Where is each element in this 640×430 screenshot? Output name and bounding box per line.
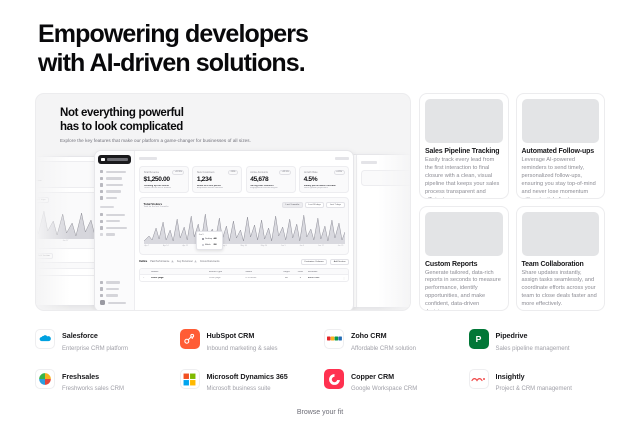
- sidebar-brand[interactable]: [98, 155, 131, 164]
- dashboard-content: Total Revenue +12.5% $1,250.00 Trending …: [135, 151, 353, 311]
- sidebar-item-label: [106, 214, 125, 216]
- range-button[interactable]: Last 7 days: [35, 197, 49, 203]
- tab-past-performance[interactable]: Past Performance 3: [150, 260, 174, 263]
- sidebar-item-label: [106, 184, 123, 186]
- logo-name: Microsoft Dynamics 365: [207, 372, 288, 381]
- visitors-chart[interactable]: Jun 9 Desktop 446 Mobile: [144, 210, 345, 250]
- team-icon: [100, 196, 103, 199]
- sidebar-item-settings[interactable]: [98, 279, 131, 286]
- axis-tick: May 24: [261, 245, 267, 247]
- feature-title: Team Collaboration: [522, 261, 600, 268]
- add-section-label: Add Section: [334, 261, 346, 263]
- logo-item-microsoft[interactable]: Microsoft Dynamics 365 Microsoft busines…: [180, 366, 317, 394]
- search-icon: [100, 294, 103, 297]
- logo-name: Copper CRM: [351, 372, 394, 381]
- logo-name: HubSpot CRM: [207, 331, 255, 340]
- logo-name: Zoho CRM: [351, 331, 387, 340]
- dashboard-mock-front: Total Revenue +12.5% $1,250.00 Trending …: [94, 150, 354, 311]
- showcase-band: Not everything powerful has to look comp…: [35, 93, 605, 311]
- sidebar-item-lifecycle[interactable]: [98, 175, 131, 182]
- more-icon: [100, 233, 103, 236]
- sidebar-item-label: [106, 233, 115, 235]
- chart-tooltip: Jun 9 Desktop 446 Mobile: [196, 231, 223, 250]
- tab-label: Focus Documents: [200, 260, 219, 263]
- tab-count: 2: [194, 261, 197, 264]
- cell-limit: 5: [295, 277, 306, 279]
- sidebar-item-label: [106, 190, 121, 192]
- sections-table: Header Section Type Status Target Limit …: [139, 268, 349, 282]
- feature-thumbnail: [522, 212, 600, 256]
- sidebar-item-analytics[interactable]: [98, 182, 131, 189]
- sidebar-item-label: [106, 227, 127, 229]
- sidebar-item-label: [106, 288, 119, 290]
- cell-target: 18: [280, 277, 293, 279]
- axis-tick: Jun 17: [63, 240, 69, 242]
- table-toolbar: Outline Past Performance 3 Key Personnel…: [139, 259, 349, 265]
- brand-logo-icon: [101, 158, 105, 162]
- range-selector: Last 3 months Last 30 days Last 7 days: [282, 202, 344, 208]
- column-header-reviewer: Reviewer: [308, 271, 338, 273]
- analytics-icon: [100, 183, 103, 186]
- chart-x-axis: Apr 7 Apr 14 Apr 22 Apr 30 May 8 May 16 …: [144, 245, 345, 247]
- microsoft-icon: [180, 369, 200, 389]
- dashboard-icon: [100, 170, 103, 173]
- zoho-icon: [324, 329, 344, 349]
- axis-tick: Jun 17: [318, 245, 324, 247]
- column-header-limit: Limit: [295, 271, 306, 273]
- table-row[interactable]: 1 Cover page Cover page In Process 18 5 …: [140, 275, 348, 281]
- kpi-value: $1,250.00: [144, 176, 185, 183]
- logo-name: Insightly: [496, 372, 525, 381]
- kpi-label: Total Revenue: [144, 171, 160, 174]
- sidebar-user[interactable]: [98, 299, 131, 307]
- logo-item-freshsales[interactable]: Freshsales Freshworks sales CRM: [35, 366, 172, 394]
- tab-label: Key Personnel: [177, 260, 193, 263]
- sidebar-item-label: [106, 281, 120, 283]
- axis-tick: Apr 22: [182, 245, 188, 247]
- topbar-title: [361, 161, 377, 164]
- kpi-badge: +12.5%: [279, 170, 291, 175]
- tab-key-personnel[interactable]: Key Personnel 2: [177, 260, 197, 263]
- panel-subtitle: Total for the last 3 months: [144, 206, 169, 208]
- hero-subtitle: Explore the key features that make our p…: [60, 138, 251, 143]
- kpi-sub: Engagement exceed targets: [250, 187, 291, 189]
- sidebar-user-label: [108, 302, 126, 304]
- feature-card-automated-follow-ups: Automated Follow-ups Leverage AI-powered…: [516, 93, 606, 199]
- logo-item-copper[interactable]: Copper CRM Google Workspace CRM: [324, 366, 461, 394]
- kpi-badge: -20%: [228, 170, 238, 175]
- kpi-card-active-accounts: Active Accounts +12.5% 45,678 Strong use…: [246, 166, 296, 193]
- range-button-30-days[interactable]: Last 30 days: [305, 202, 324, 208]
- insightly-icon: [469, 369, 489, 389]
- kpi-badge: +12.5%: [172, 170, 184, 175]
- data-library-icon: [100, 213, 103, 216]
- hubspot-icon: [180, 329, 200, 349]
- row-menu-icon[interactable]: ⋮: [340, 277, 345, 280]
- tab-label: Past Performance: [150, 260, 169, 263]
- logo-name: Salesforce: [62, 331, 98, 340]
- column-header-section-type: Section Type: [209, 271, 244, 273]
- logo-description: Inbound marketing & sales: [207, 345, 278, 353]
- logo-description: Enterprise CRM platform: [62, 345, 128, 353]
- cell-status: In Process: [245, 277, 277, 279]
- logo-description: Freshworks sales CRM: [62, 385, 124, 393]
- projects-icon: [100, 190, 103, 193]
- sidebar-item-label: [106, 197, 117, 199]
- feature-card-sales-pipeline-tracking: Sales Pipeline Tracking Easily track eve…: [419, 93, 509, 199]
- lifecycle-icon: [100, 177, 103, 180]
- kpi-row: Total Revenue +12.5% $1,250.00 Trending …: [139, 166, 349, 193]
- cell-reviewer: Eddie Lake: [308, 277, 338, 279]
- svg-text:P: P: [476, 334, 482, 344]
- logo-name: Pipedrive: [496, 331, 528, 340]
- avatar: [100, 300, 105, 305]
- pipedrive-icon: P: [469, 329, 489, 349]
- feature-thumbnail: [425, 212, 503, 256]
- integration-logo-grid: Salesforce Enterprise CRM platform HubSp…: [35, 325, 605, 393]
- sidebar-item-help[interactable]: [98, 286, 131, 293]
- dashboard-sidebar: [95, 151, 135, 311]
- feature-card-custom-reports: Custom Reports Generate tailored, data-r…: [419, 206, 509, 312]
- topbar-title: [139, 157, 157, 160]
- legend-dot: [202, 244, 204, 246]
- feature-thumbnail: [522, 99, 600, 143]
- brand-name: [107, 158, 129, 161]
- row-index: 1: [143, 277, 149, 279]
- tab-count: 3: [171, 261, 174, 264]
- page-headline: Empowering developers with AI-driven sol…: [38, 20, 308, 78]
- axis-tick: Jun 9: [299, 245, 304, 247]
- help-icon: [100, 287, 103, 290]
- tab-outline[interactable]: Outline: [139, 260, 147, 263]
- logo-item-salesforce[interactable]: Salesforce Enterprise CRM platform: [35, 325, 172, 353]
- salesforce-icon: [35, 329, 55, 349]
- feature-description: Generate tailored, data-rich reports in …: [425, 270, 503, 312]
- tab-focus-documents[interactable]: Focus Documents: [200, 260, 219, 263]
- hero-title: Not everything powerful has to look comp…: [60, 106, 184, 135]
- sidebar-item-dashboard[interactable]: [98, 169, 131, 176]
- tooltip-series-value: 446: [213, 238, 216, 240]
- axis-tick: May 16: [241, 245, 247, 247]
- range-button-7-days[interactable]: Last 7 days: [326, 202, 344, 208]
- kpi-badge: +4.5%: [334, 170, 345, 175]
- cell-section-type: Cover page: [209, 277, 244, 279]
- logo-description: Sales pipeline management: [496, 345, 570, 353]
- kpi-label: Growth Rate: [304, 171, 318, 174]
- landing-page: Empowering developers with AI-driven sol…: [0, 0, 640, 430]
- kpi-label: Active Accounts: [250, 171, 268, 174]
- feature-title: Automated Follow-ups: [522, 148, 600, 155]
- feature-card-team-collaboration: Team Collaboration Share updates instant…: [516, 206, 606, 312]
- sidebar-item-label: [106, 177, 122, 179]
- range-button-3-months[interactable]: Last 3 months: [282, 202, 303, 208]
- logo-item-insightly[interactable]: Insightly Project & CRM management: [469, 366, 606, 394]
- logo-name: Freshsales: [62, 372, 99, 381]
- sidebar-item-more[interactable]: [98, 231, 131, 238]
- axis-tick: Apr 14: [163, 245, 169, 247]
- logo-item-hubspot[interactable]: HubSpot CRM Inbound marketing & sales: [180, 325, 317, 353]
- kpi-sub: Acquisition needs attention: [197, 187, 238, 189]
- browse-your-fit-link[interactable]: Browse your fit: [0, 409, 640, 416]
- sidebar-item-reports[interactable]: [98, 218, 131, 225]
- cell-header: Cover page: [151, 277, 207, 279]
- sidebar-item-projects[interactable]: [98, 188, 131, 195]
- sidebar-item-search[interactable]: [98, 292, 131, 299]
- kpi-card-new-customers: New Customers -20% 1,234 Down 20% this p…: [192, 166, 242, 193]
- sidebar-item-team[interactable]: [98, 195, 131, 202]
- freshsales-icon: [35, 369, 55, 389]
- tooltip-series-name: Desktop: [205, 238, 212, 240]
- sidebar-item-label: [106, 294, 118, 296]
- kpi-sub: Visitors for the last 6 months: [144, 187, 185, 189]
- logo-item-zoho[interactable]: Zoho CRM Affordable CRM solution: [324, 325, 461, 353]
- logo-item-pipedrive[interactable]: P Pipedrive Sales pipeline management: [469, 325, 606, 353]
- visitors-panel: Total Visitors Total for the last 3 mont…: [139, 197, 349, 255]
- customize-columns-button[interactable]: Customize Columns: [301, 259, 328, 265]
- feature-card-grid: Sales Pipeline Tracking Easily track eve…: [419, 93, 605, 311]
- kpi-value: 4.5%: [304, 176, 345, 183]
- legend-dot: [202, 238, 204, 240]
- kpi-card-growth-rate: Growth Rate +4.5% 4.5% Steady performanc…: [299, 166, 349, 193]
- logo-description: Microsoft business suite: [207, 385, 288, 393]
- hero-card: Not everything powerful has to look comp…: [35, 93, 411, 311]
- kpi-value: 45,678: [250, 176, 291, 183]
- reports-icon: [100, 220, 103, 223]
- gear-icon: [100, 281, 103, 284]
- tab-label: Outline: [139, 260, 147, 263]
- axis-tick: Jun 25: [338, 245, 344, 247]
- axis-tick: Jun 1: [281, 245, 286, 247]
- feature-title: Sales Pipeline Tracking: [425, 148, 503, 155]
- tooltip-series-name: Mobile: [205, 244, 211, 246]
- kpi-card-total-revenue: Total Revenue +12.5% $1,250.00 Trending …: [139, 166, 189, 193]
- kpi-label: New Customers: [197, 171, 215, 174]
- add-section-button[interactable]: Add Section: [330, 259, 349, 265]
- sidebar-item-word-assistant[interactable]: [98, 225, 131, 232]
- add-section-button[interactable]: Add Section: [35, 253, 53, 259]
- feature-description: Easily track every lead from the first i…: [425, 157, 503, 199]
- copper-icon: [324, 369, 344, 389]
- logo-description: Affordable CRM solution: [351, 345, 416, 353]
- sidebar-item-data-library[interactable]: [98, 211, 131, 218]
- column-header-status: Status: [245, 271, 277, 273]
- tooltip-series-value: 280: [213, 244, 216, 246]
- kpi-sub: Meets growth projections: [304, 187, 345, 189]
- column-header-target: Target: [280, 271, 293, 273]
- tooltip-label: Jun 9: [199, 234, 220, 236]
- sidebar-item-label: [106, 220, 120, 222]
- sidebar-group-label-documents: [100, 206, 114, 208]
- word-assistant-icon: [100, 226, 103, 229]
- customize-columns-label: Customize Columns: [304, 261, 324, 263]
- sidebar-item-label: [106, 171, 126, 173]
- feature-description: Share updates instantly, assign tasks se…: [522, 270, 600, 310]
- axis-tick: Apr 7: [145, 245, 150, 247]
- dashboard-topbar: [139, 155, 349, 162]
- logo-description: Project & CRM management: [496, 385, 572, 393]
- column-header-header: Header: [151, 271, 207, 273]
- feature-thumbnail: [425, 99, 503, 143]
- kpi-value: 1,234: [197, 176, 238, 183]
- logo-description: Google Workspace CRM: [351, 385, 417, 393]
- topbar-action[interactable]: [335, 157, 349, 160]
- feature-description: Leverage AI-powered reminders to send ti…: [522, 157, 600, 199]
- dashboard-stack: Growth Rate +4.5% 4.5% Steady performanc…: [36, 150, 411, 311]
- feature-title: Custom Reports: [425, 261, 503, 268]
